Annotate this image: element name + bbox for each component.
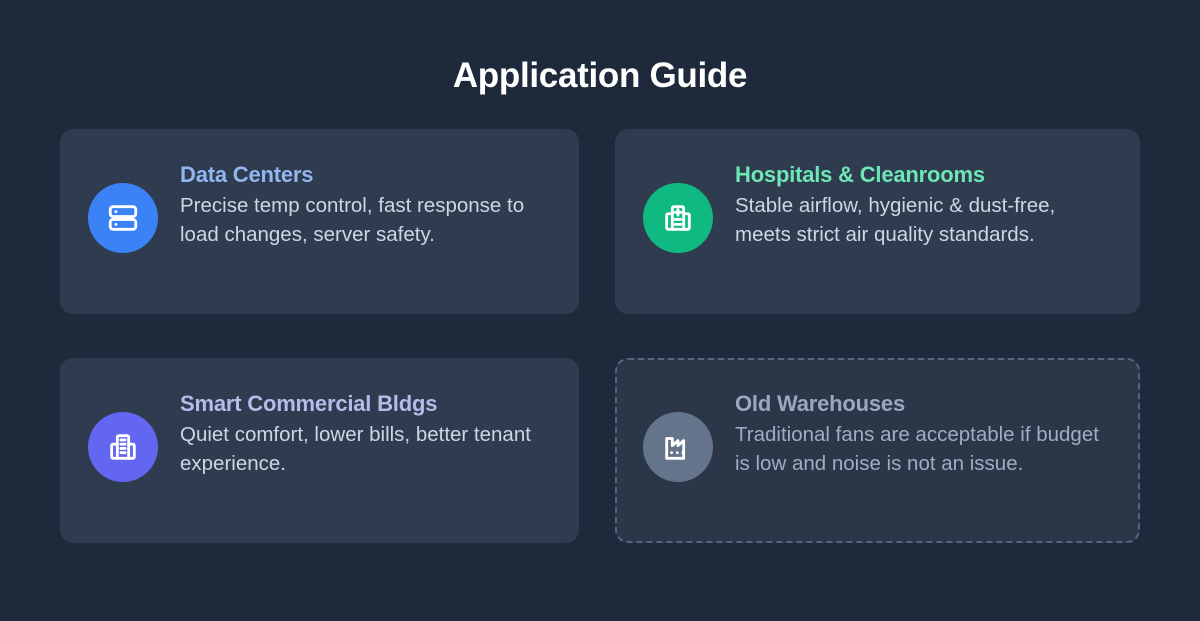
card-title: Old Warehouses: [735, 390, 1114, 418]
office-building-icon: [88, 412, 158, 482]
application-card-data-centers[interactable]: Data Centers Precise temp control, fast …: [60, 129, 579, 314]
factory-icon: [643, 412, 713, 482]
application-guide-page: Application Guide Data Centers Precise t…: [0, 0, 1200, 621]
card-title: Hospitals & Cleanrooms: [735, 161, 1114, 189]
card-description: Traditional fans are acceptable if budge…: [735, 420, 1114, 478]
card-body: Smart Commercial Bldgs Quiet comfort, lo…: [180, 388, 553, 479]
card-body: Hospitals & Cleanrooms Stable airflow, h…: [735, 159, 1114, 250]
card-description: Stable airflow, hygienic & dust-free, me…: [735, 191, 1114, 249]
page-title: Application Guide: [0, 0, 1200, 96]
card-description: Precise temp control, fast response to l…: [180, 191, 553, 249]
application-card-smart-commercial-bldgs[interactable]: Smart Commercial Bldgs Quiet comfort, lo…: [60, 358, 579, 543]
application-card-hospitals-cleanrooms[interactable]: Hospitals & Cleanrooms Stable airflow, h…: [615, 129, 1140, 314]
server-icon: [88, 183, 158, 253]
application-card-old-warehouses[interactable]: Old Warehouses Traditional fans are acce…: [615, 358, 1140, 543]
card-title: Smart Commercial Bldgs: [180, 390, 553, 418]
hospital-icon: [643, 183, 713, 253]
card-title: Data Centers: [180, 161, 553, 189]
card-body: Old Warehouses Traditional fans are acce…: [735, 388, 1114, 479]
card-description: Quiet comfort, lower bills, better tenan…: [180, 420, 553, 478]
card-body: Data Centers Precise temp control, fast …: [180, 159, 553, 250]
application-cards-grid: Data Centers Precise temp control, fast …: [60, 96, 1140, 543]
